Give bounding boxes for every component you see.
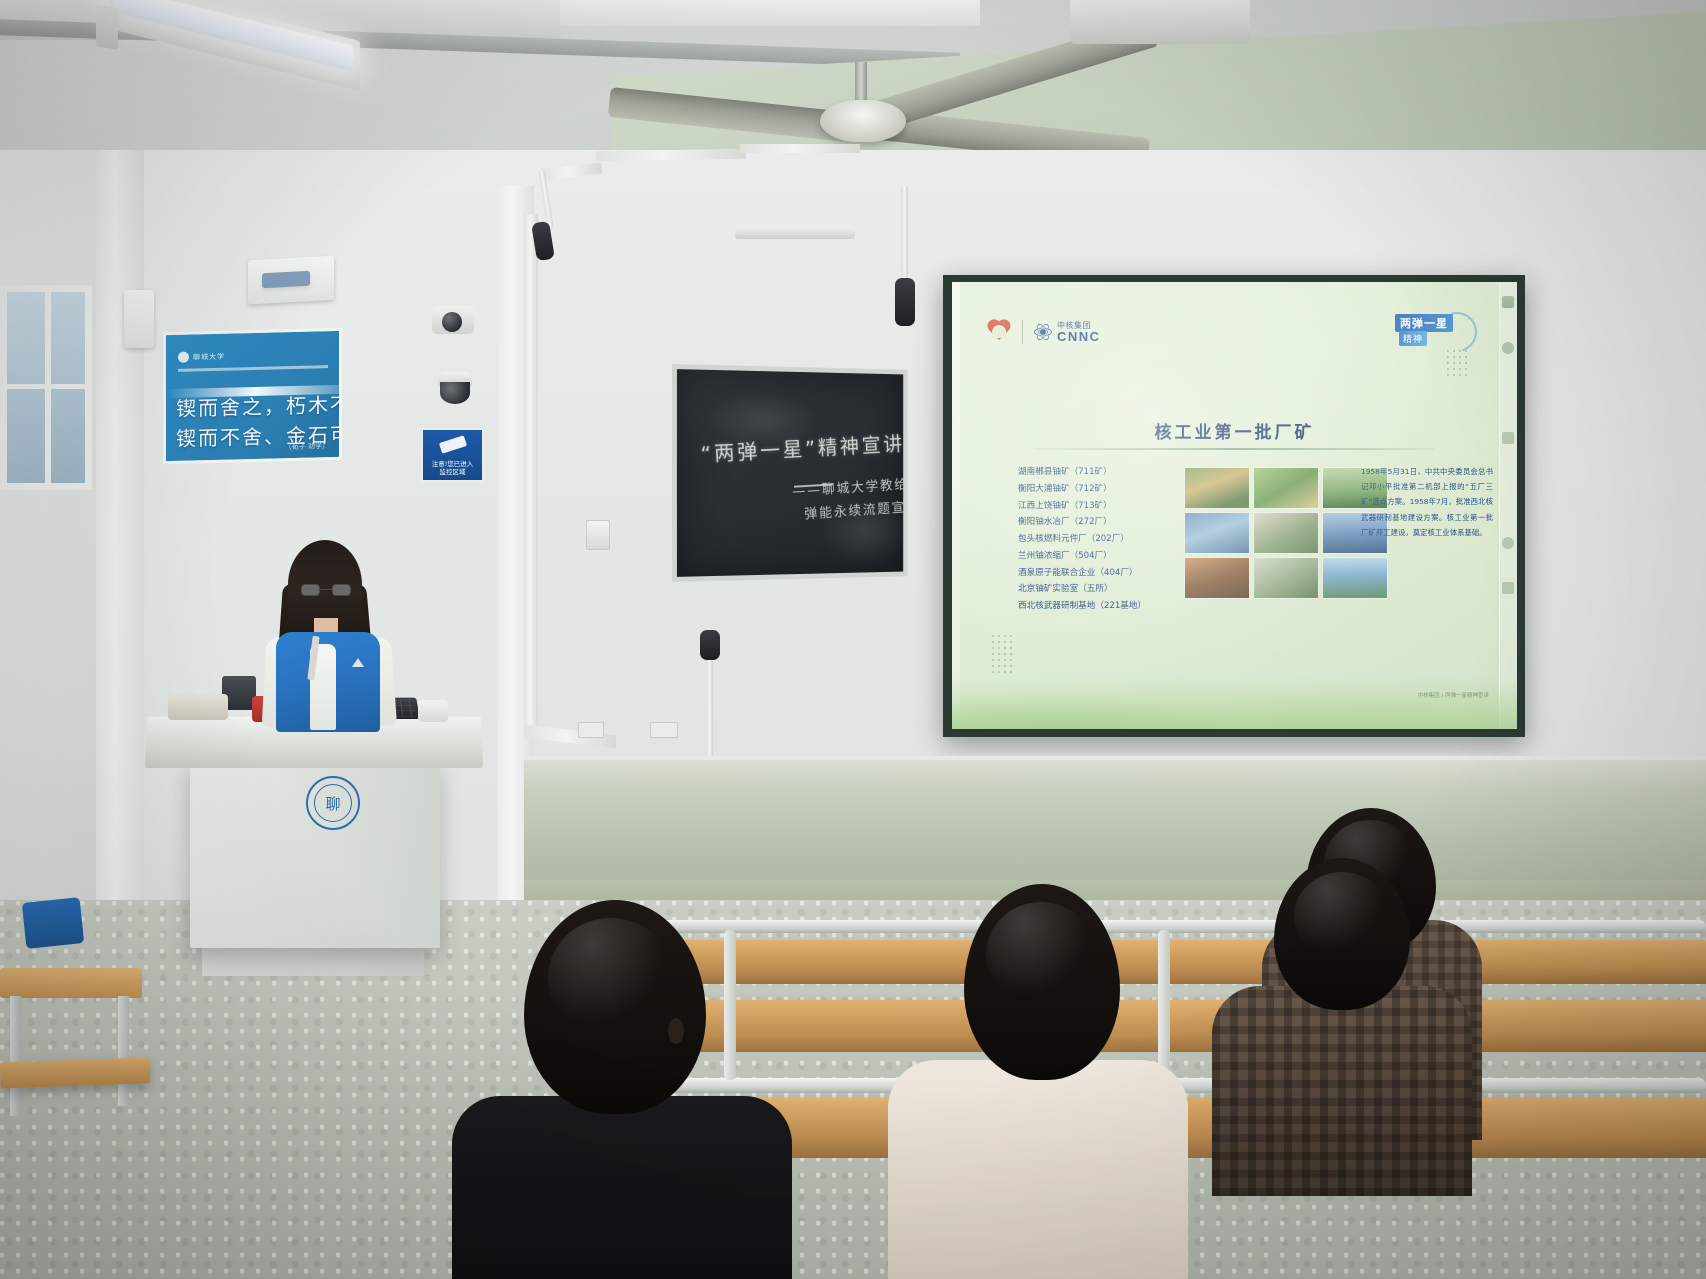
slide-photo (1184, 467, 1250, 509)
list-item: 江西上饶铀矿（713矿） (1018, 498, 1173, 515)
slide-title: 核工业第一批厂矿 (952, 418, 1517, 443)
glasses-lens-right (332, 584, 351, 596)
curtain-track (735, 226, 855, 239)
ceiling-conduit (740, 144, 860, 153)
badge-line-2: 精神 (1399, 331, 1427, 346)
list-item: 西北核武器研制基地（221基地） (1018, 598, 1173, 615)
dome-camera-icon (440, 382, 470, 404)
ceiling-projector (1070, 0, 1250, 44)
list-item: 湖南郴县铀矿（711矿） (1018, 464, 1173, 481)
slide-body-paragraph: 1958年5月31日，中共中央委员会总书记邓小平批准第二机部上报的“五厂三矿”选… (1361, 464, 1493, 540)
badge-line-1: 两弹一星 (1395, 314, 1453, 332)
wall-socket[interactable] (578, 722, 604, 738)
floor-microphone-stand (706, 650, 713, 766)
classroom-chair[interactable] (22, 897, 84, 949)
list-item: 包头核燃料元件厂（202厂） (1018, 531, 1173, 548)
cnnc-logo: 中核集团 CNNC (1033, 322, 1101, 343)
slide-dot-pattern (1445, 348, 1471, 378)
slide-facility-list: 湖南郴县铀矿（711矿） 衡阳大浦铀矿（712矿） 江西上饶铀矿（713矿） 衡… (1018, 464, 1173, 615)
slide-photo (1184, 557, 1250, 599)
hair-highlight (548, 918, 674, 1036)
wall-conduit (524, 214, 538, 734)
cnnc-wordmark: 中核集团 CNNC (1057, 322, 1101, 343)
slide-photo (1184, 512, 1250, 554)
poster-attribution: （荀子·劝学） (285, 441, 329, 452)
glasses-bridge (320, 589, 332, 590)
projection-screen: 中核集团 CNNC 两弹一星 精神 核工业第一批厂矿 湖南郴县铀矿（711矿） … (952, 282, 1517, 729)
university-emblem-icon (178, 352, 189, 363)
atom-nucleus (1040, 329, 1046, 335)
slide-photo (1253, 467, 1319, 509)
atom-icon (1033, 322, 1053, 342)
surveillance-warning-sign: 注意!您已进入 监控区域 (421, 428, 484, 482)
list-item: 北京铀矿实验室（五所） (1018, 581, 1173, 598)
side-desk[interactable] (0, 968, 142, 998)
window-mullion (7, 384, 85, 389)
poster-divider (178, 365, 328, 372)
projection-screen-frame: 中核集团 CNNC 两弹一星 精神 核工业第一批厂矿 湖南郴县铀矿（711矿） … (943, 275, 1525, 737)
logo-divider (1022, 320, 1023, 344)
warning-line-1: 注意!您已进入 (423, 460, 482, 468)
student-left (452, 900, 792, 1279)
side-desk-leg (10, 996, 21, 1116)
toolbar-menu-icon[interactable] (1502, 296, 1514, 308)
student-torso (452, 1096, 792, 1279)
lamp-end-cap (96, 4, 118, 50)
slide-photo (1253, 512, 1319, 554)
lectern: 聊 (146, 716, 482, 976)
glasses-lens-left (301, 584, 320, 596)
toolbar-phone-icon[interactable] (1502, 537, 1514, 549)
slide-dot-pattern (990, 633, 1016, 673)
bench-shadow (690, 1136, 1706, 1158)
slide-brand-logos: 中核集团 CNNC (986, 320, 1101, 344)
floor-microphone-head (700, 630, 720, 660)
classroom-photo: 聊城大学 锲而舍之，朽木不折； 锲而不舍、金石可镂 （荀子·劝学） 注意!您已进… (0, 0, 1706, 1279)
desk-paper (418, 700, 448, 722)
side-bench[interactable] (0, 1057, 150, 1088)
student-torso (888, 1060, 1188, 1279)
heart-icon (986, 320, 1012, 344)
seal-character: 聊 (314, 784, 352, 822)
desk-items (168, 694, 228, 720)
bench-row[interactable] (690, 1098, 1706, 1138)
window (0, 285, 92, 490)
wall-socket[interactable] (650, 722, 678, 738)
cnnc-name-en: CNNC (1057, 330, 1101, 343)
camera-lens-icon (442, 312, 462, 332)
student-right (1212, 858, 1472, 1188)
side-desk-leg (118, 996, 129, 1106)
list-item: 衡阳大浦铀矿（712矿） (1018, 481, 1173, 498)
glasses-icon (301, 584, 351, 596)
slide-theme-badge: 两弹一星 精神 (1391, 312, 1477, 352)
presenter (252, 540, 412, 730)
lectern-body: 聊 (190, 760, 440, 948)
toolbar-more-icon[interactable] (1502, 582, 1514, 594)
slide-photo (1322, 557, 1388, 599)
student-ear (668, 1018, 684, 1044)
blackboard-subtitle-1: ——聊城大学教给墨可 (792, 473, 908, 501)
wall-column (96, 150, 144, 1010)
poster-logo-label: 聊城大学 (193, 351, 225, 362)
slide-photo-grid (1184, 467, 1388, 599)
heart-inner-shape (992, 325, 1007, 339)
camera-glyph-icon (438, 435, 466, 453)
hanging-microphone-cable (901, 186, 908, 290)
student-center (888, 884, 1188, 1279)
hair-highlight (1294, 872, 1390, 960)
warning-sign-text: 注意!您已进入 监控区域 (423, 460, 482, 476)
hair-highlight (986, 902, 1096, 1006)
slide-decoration-band (952, 677, 1517, 729)
ceiling-fan (820, 100, 906, 142)
list-item: 衡阳铀水冶厂（272厂） (1018, 514, 1173, 531)
wall-switch[interactable] (586, 520, 610, 550)
wall-poster: 聊城大学 锲而舍之，朽木不折； 锲而不舍、金石可镂 （荀子·劝学） (163, 328, 342, 464)
poster-logo: 聊城大学 (178, 349, 266, 364)
slide-footer: 中核集团 / 两弹一星精神宣讲 (1418, 693, 1489, 701)
university-seal: 聊 (306, 776, 360, 830)
warning-line-2: 监控区域 (423, 468, 482, 476)
list-item: 酒泉原子能联合企业（404厂） (1018, 565, 1173, 582)
list-item: 兰州铀浓缩厂（504厂） (1018, 548, 1173, 565)
slide-title-rule (1034, 448, 1434, 450)
blackboard: “两弹一星”精神宣讲活动 ——聊城大学教给墨可 弹能永续流题宣讲团 (672, 364, 908, 582)
speaker-grille (262, 271, 310, 289)
student-torso (1212, 986, 1472, 1196)
hanging-microphone (895, 278, 915, 326)
wall-junction-box (124, 290, 154, 348)
slide-photo (1253, 557, 1319, 599)
toolbar-pen-icon[interactable] (1502, 342, 1514, 354)
ceiling-slab (560, 0, 980, 26)
